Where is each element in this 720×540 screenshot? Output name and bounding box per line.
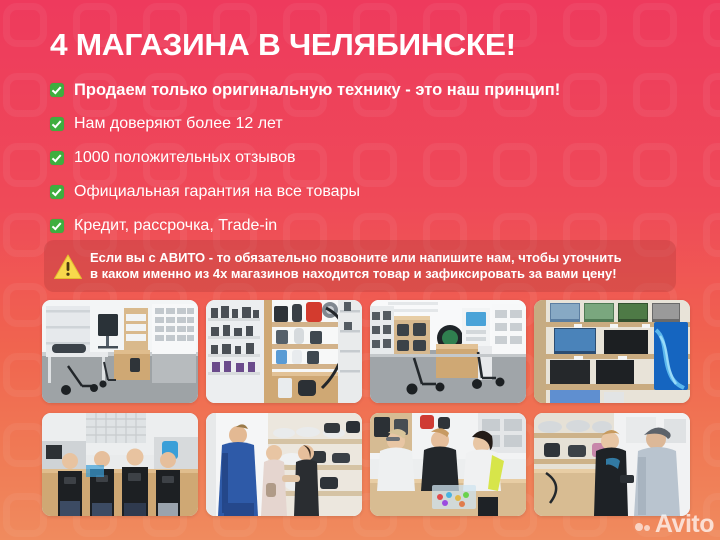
- gallery-row: [42, 300, 678, 403]
- notice-line-2: в каком именно из 4х магазинов находится…: [90, 266, 617, 281]
- gallery-photo-store-interior-phones-counter[interactable]: [42, 300, 198, 403]
- gallery-photo-customers-at-shelves[interactable]: [206, 413, 362, 516]
- list-item: Кредит, рассрочка, Trade-in: [50, 210, 680, 242]
- check-icon: [50, 151, 64, 165]
- warning-triangle-icon: [53, 253, 83, 280]
- list-item: 1000 положительных отзывов: [50, 142, 680, 174]
- benefits-list: Продаем только оригинальную технику - эт…: [50, 74, 680, 242]
- list-item: Официальная гарантия на все товары: [50, 176, 680, 208]
- list-item-label: Официальная гарантия на все товары: [74, 182, 360, 202]
- notice-box: Если вы с АВИТО - то обязательно позвони…: [44, 240, 676, 292]
- gallery-photo-store-shelves-vacuum-cleaners[interactable]: [206, 300, 362, 403]
- page-title: 4 МАГАЗИНА В ЧЕЛЯБИНСКЕ!: [50, 25, 688, 65]
- gallery-photo-staff-team-photo[interactable]: [42, 413, 198, 516]
- gallery-photo-customers-with-staff-counter[interactable]: [370, 413, 526, 516]
- list-item-label: Нам доверяют более 12 лет: [74, 114, 283, 134]
- gallery-photo-staff-helping-customer[interactable]: [534, 413, 690, 516]
- list-item-label: Кредит, рассрочка, Trade-in: [74, 216, 277, 236]
- check-icon: [50, 185, 64, 199]
- notice-text: Если вы с АВИТО - то обязательно позвони…: [90, 250, 622, 283]
- check-icon: [50, 219, 64, 233]
- list-item: Продаем только оригинальную технику - эт…: [50, 74, 680, 106]
- check-icon: [50, 117, 64, 131]
- list-item: Нам доверяют более 12 лет: [50, 108, 680, 140]
- notice-line-1: Если вы с АВИТО - то обязательно позвони…: [90, 250, 622, 265]
- gallery-photo-store-tv-display-wall[interactable]: [534, 300, 690, 403]
- list-item-label: 1000 положительных отзывов: [74, 148, 296, 168]
- photo-gallery: [42, 300, 678, 516]
- check-icon: [50, 83, 64, 97]
- promo-banner: 4 МАГАЗИНА В ЧЕЛЯБИНСКЕ! Продаем только …: [0, 0, 720, 540]
- gallery-row: [42, 413, 678, 516]
- list-item-label: Продаем только оригинальную технику - эт…: [74, 80, 560, 100]
- avito-dots-icon: [635, 519, 652, 531]
- gallery-photo-store-aisle-scooters[interactable]: [370, 300, 526, 403]
